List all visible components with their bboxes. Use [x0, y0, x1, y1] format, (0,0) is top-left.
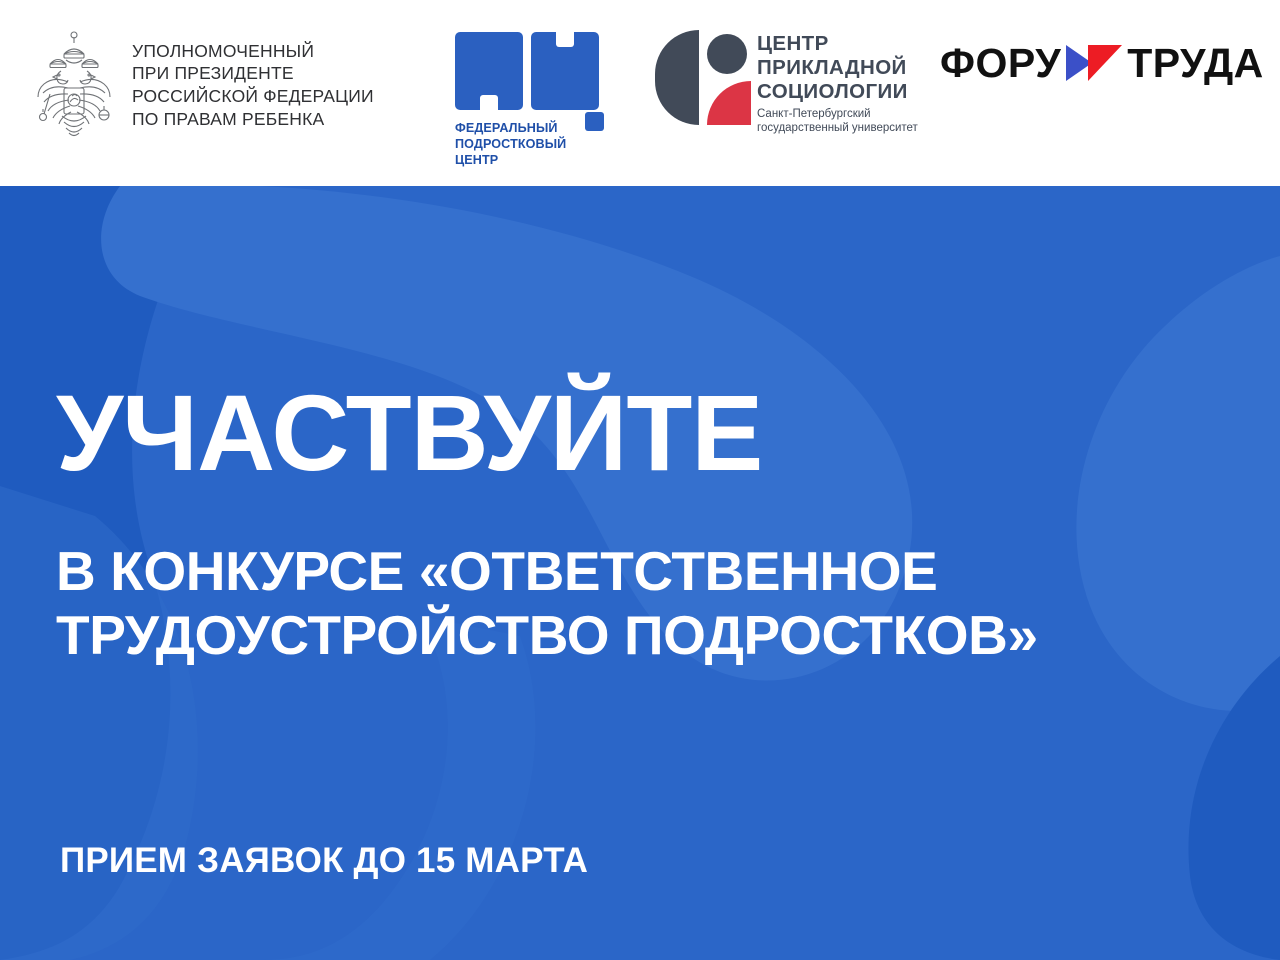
poster-headline: УЧАСТВУЙТЕ — [56, 379, 762, 487]
subheadline-line-1: В КОНКУРСЕ «ОТВЕТСТВЕННОЕ — [56, 540, 937, 602]
fpc-bottom-notch — [480, 95, 498, 110]
blue-stage: УЧАСТВУЙТЕ В КОНКУРСЕ «ОТВЕТСТВЕННОЕ ТРУ… — [0, 186, 1280, 960]
cas-sub-line-1: Санкт-Петербургский — [757, 107, 918, 121]
logo-header-bar: УПОЛНОМОЧЕННЫЙ ПРИ ПРЕЗИДЕНТЕ РОССИЙСКОЙ… — [0, 0, 1280, 186]
fpc-top-notch — [556, 32, 574, 47]
cas-title-line-3: СОЦИОЛОГИИ — [757, 80, 918, 104]
cas-title-line-1: ЦЕНТР — [757, 32, 918, 56]
blob-right-light — [1076, 256, 1280, 711]
cas-sub-line-2: государственный университет — [757, 121, 918, 135]
cas-circle — [707, 34, 747, 74]
poster-deadline: ПРИЕМ ЗАЯВОК ДО 15 МАРТА — [60, 843, 588, 878]
cas-quarter-circle — [707, 81, 751, 125]
ombudsman-line-3: РОССИЙСКОЙ ФЕДЕРАЦИИ — [132, 85, 374, 108]
logo-ombudsman-text: УПОЛНОМОЧЕННЫЙ ПРИ ПРЕЗИДЕНТЕ РОССИЙСКОЙ… — [132, 40, 374, 131]
subheadline-line-2: ТРУДОУСТРОЙСТВО ПОДРОСТКОВ» — [56, 604, 1038, 668]
forum-truda-m-triangle-icon — [1066, 42, 1122, 84]
logo-applied-sociology-center: ЦЕНТР ПРИКЛАДНОЙ СОЦИОЛОГИИ Санкт-Петерб… — [655, 30, 918, 135]
forum-truda-red-triangle — [1088, 45, 1122, 81]
logo-forum-truda: ФОРУ ТРУДА — [940, 42, 1264, 84]
russian-eagle-emblem-icon — [28, 30, 120, 140]
logo-ombudsman: УПОЛНОМОЧЕННЫЙ ПРИ ПРЕЗИДЕНТЕ РОССИЙСКОЙ… — [28, 30, 374, 140]
fpc-line-3: ЦЕНТР — [455, 152, 605, 168]
logo-federal-teen-center-text: ФЕДЕРАЛЬНЫЙ ПОДРОСТКОВЫЙ ЦЕНТР — [455, 120, 605, 168]
fpc-line-1: ФЕДЕРАЛЬНЫЙ — [455, 120, 605, 136]
poster-root: УПОЛНОМОЧЕННЫЙ ПРИ ПРЕЗИДЕНТЕ РОССИЙСКОЙ… — [0, 0, 1280, 960]
federal-teen-center-mark-icon — [455, 32, 605, 110]
forum-truda-word-right: ТРУДА — [1127, 43, 1264, 84]
poster-subheadline: В КОНКУРСЕ «ОТВЕТСТВЕННОЕ ТРУДОУСТРОЙСТВ… — [56, 540, 1038, 668]
cas-semicircle — [655, 30, 699, 125]
logo-federal-teen-center: ФЕДЕРАЛЬНЫЙ ПОДРОСТКОВЫЙ ЦЕНТР — [455, 32, 605, 168]
cas-title-line-2: ПРИКЛАДНОЙ — [757, 56, 918, 80]
forum-truda-word-left: ФОРУ — [940, 43, 1061, 84]
logo-applied-sociology-text: ЦЕНТР ПРИКЛАДНОЙ СОЦИОЛОГИИ Санкт-Петерб… — [757, 30, 918, 135]
ombudsman-line-4: ПО ПРАВАМ РЕБЕНКА — [132, 108, 374, 131]
applied-sociology-mark-icon — [655, 30, 747, 125]
fpc-line-2: ПОДРОСТКОВЫЙ — [455, 136, 605, 152]
fpc-accent-square — [585, 112, 604, 131]
ombudsman-line-2: ПРИ ПРЕЗИДЕНТЕ — [132, 62, 374, 85]
blob-mid-left-curve — [260, 616, 536, 960]
ombudsman-line-1: УПОЛНОМОЧЕННЫЙ — [132, 40, 374, 63]
